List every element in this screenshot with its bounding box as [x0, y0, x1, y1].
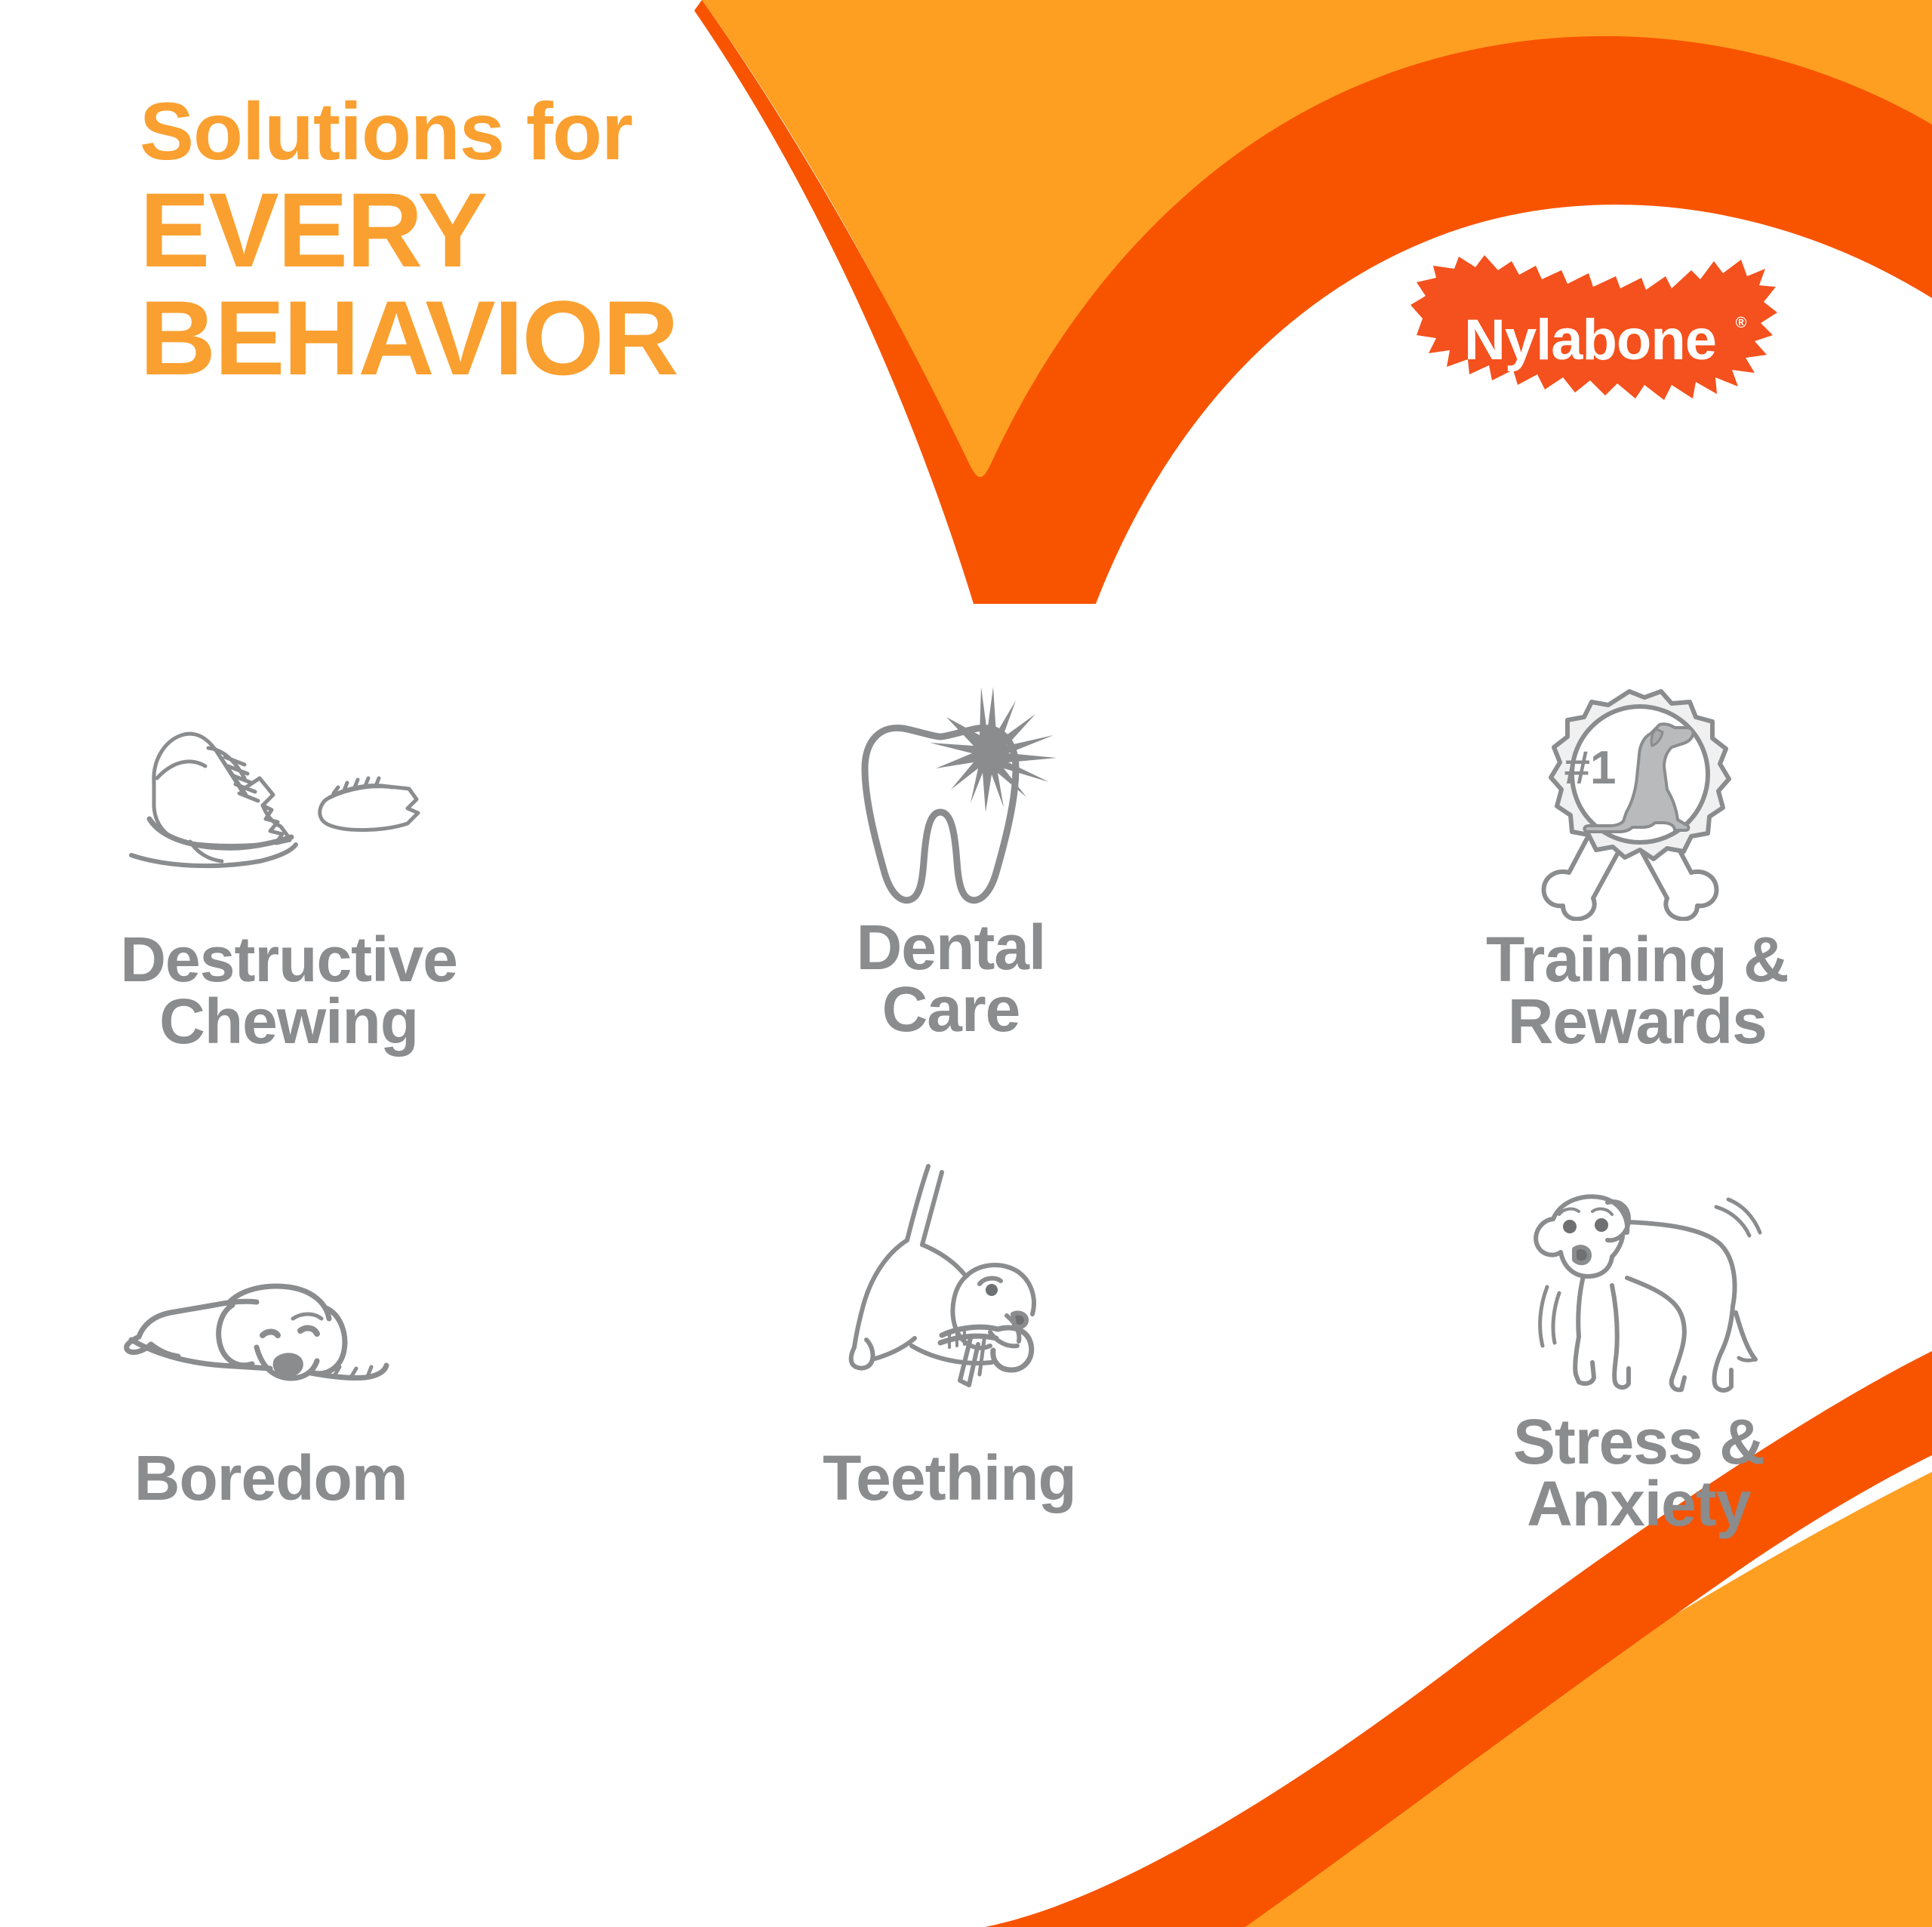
- behavior-item-teething[interactable]: Teething: [627, 1180, 1271, 1535]
- badge-number: #1: [1564, 742, 1617, 794]
- behavior-item-destructive-chewing[interactable]: Destructive Chewing: [0, 679, 611, 1053]
- behavior-label-boredom: Boredom: [134, 1447, 408, 1509]
- bored-lying-dog-icon: [109, 1180, 433, 1406]
- sparkle-icon: [930, 687, 1057, 812]
- logo-wordmark: Nylabone: [1464, 308, 1716, 372]
- headline-line-3: BEHAVIOR: [140, 285, 894, 392]
- behavior-item-dental-care[interactable]: Dental Care: [629, 679, 1272, 1053]
- chewed-shoe-icon: [112, 679, 466, 921]
- sparkling-tooth-icon: [838, 679, 1064, 921]
- bottom-light-orange-swoosh: [1124, 1472, 1932, 1927]
- behavior-label-stress-anxiety: Stress & Anxiety: [1513, 1411, 1764, 1535]
- nylabone-logo: Nylabone ®: [1400, 240, 1777, 436]
- headline-block: Solutions for EVERY BEHAVIOR: [140, 91, 894, 392]
- anxious-shaking-dog-icon: [1514, 1180, 1763, 1406]
- behavior-item-boredom[interactable]: Boredom: [0, 1180, 592, 1535]
- headline-line-1: Solutions for: [140, 91, 894, 172]
- behavior-row-1: Destructive Chewing Dental Care: [0, 679, 1932, 1053]
- behavior-grid: Destructive Chewing Dental Care: [0, 679, 1932, 1535]
- award-rosette-dog-icon: #1: [1524, 679, 1750, 921]
- headline-line-2: EVERY: [140, 177, 894, 285]
- behavior-row-2: Boredom: [0, 1180, 1932, 1535]
- behavior-item-stress-anxiety[interactable]: Stress & Anxiety: [1317, 1180, 1932, 1535]
- behavior-label-training-rewards: Training & Rewards: [1486, 928, 1789, 1053]
- behavior-label-destructive-chewing: Destructive Chewing: [120, 928, 457, 1053]
- puppy-chewing-toy-icon: [829, 1180, 1070, 1406]
- promo-graphic: Solutions for EVERY BEHAVIOR Nylabone ®: [0, 0, 1932, 1927]
- behavior-label-teething: Teething: [823, 1447, 1076, 1509]
- behavior-label-dental-care: Dental Care: [857, 916, 1046, 1041]
- behavior-item-training-rewards[interactable]: #1 Training & Rewards: [1315, 679, 1932, 1053]
- logo-registered-mark: ®: [1736, 315, 1747, 331]
